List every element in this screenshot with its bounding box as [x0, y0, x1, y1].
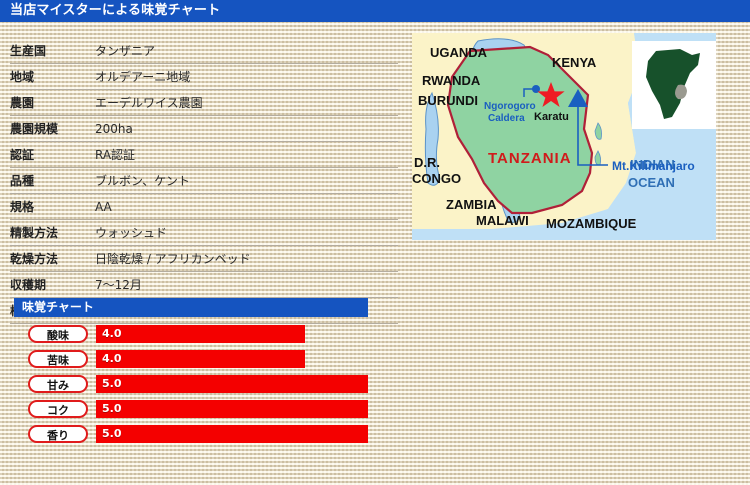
- taste-chart-header: 味覚チャート: [14, 298, 368, 317]
- taste-label-pill: 苦味: [28, 350, 88, 368]
- taste-bar-fill: 5.0: [96, 400, 368, 418]
- taste-chart-row: コク 5.0: [14, 396, 368, 421]
- taste-bar-track: 4.0: [96, 325, 368, 343]
- spec-label: 精製方法: [10, 224, 95, 241]
- taste-chart-block: 味覚チャート 酸味 4.0 苦味 4.0 甘み: [14, 298, 368, 446]
- spec-value: 日陰乾燥 / アフリカンベッド: [95, 250, 251, 267]
- table-row: 精製方法 ウォッシュド: [10, 220, 398, 246]
- spec-label: 規格: [10, 198, 95, 215]
- map-label-kenya: KENYA: [552, 55, 597, 70]
- spec-value: オルデアーニ地域: [95, 68, 190, 85]
- spec-label: 品種: [10, 172, 95, 189]
- taste-bar-track: 4.0: [96, 350, 368, 368]
- map-label-rwanda: RWANDA: [422, 73, 481, 88]
- table-row: 農園 エーデルワイス農園: [10, 90, 398, 116]
- taste-bar-track: 5.0: [96, 400, 368, 418]
- taste-label-pill: コク: [28, 400, 88, 418]
- tanzania-map-svg: UGANDA KENYA RWANDA BURUNDI D.R. CONGO Z…: [412, 33, 716, 240]
- spec-label: 生産国: [10, 42, 95, 59]
- taste-chart-row: 甘み 5.0: [14, 371, 368, 396]
- spec-value: 7〜12月: [95, 276, 142, 293]
- taste-chart-row: 酸味 4.0: [14, 321, 368, 346]
- taste-label-pill: 甘み: [28, 375, 88, 393]
- map-label-ngorogoro: Ngorogoro: [484, 101, 536, 112]
- table-row: 地域 オルデアーニ地域: [10, 64, 398, 90]
- map-label-karatu: Karatu: [534, 111, 569, 123]
- spec-value: ブルボン、ケント: [95, 172, 190, 189]
- spec-label: 農園: [10, 94, 95, 111]
- taste-bar-fill: 4.0: [96, 325, 305, 343]
- taste-bar-value: 5.0: [102, 402, 122, 415]
- map-label-indian-ocean-2: OCEAN: [628, 175, 675, 190]
- taste-bar-value: 5.0: [102, 427, 122, 440]
- taste-chart-rows: 酸味 4.0 苦味 4.0 甘み 5: [14, 321, 368, 446]
- map-label-uganda: UGANDA: [430, 45, 488, 60]
- spec-value: 200ha: [95, 122, 133, 136]
- taste-bar-value: 5.0: [102, 377, 122, 390]
- table-row: 乾燥方法 日陰乾燥 / アフリカンベッド: [10, 246, 398, 272]
- spec-label: 認証: [10, 146, 95, 163]
- table-row: 品種 ブルボン、ケント: [10, 168, 398, 194]
- taste-bar-track: 5.0: [96, 375, 368, 393]
- spec-value: AA: [95, 200, 112, 214]
- tanzania-map-image: UGANDA KENYA RWANDA BURUNDI D.R. CONGO Z…: [412, 33, 716, 240]
- taste-bar-value: 4.0: [102, 352, 122, 365]
- map-label-kilimanjaro: Mt.Kilimanjaro: [612, 159, 695, 173]
- map-label-congo: CONGO: [412, 171, 461, 186]
- spec-label: 乾燥方法: [10, 250, 95, 267]
- table-row: 農園規模 200ha: [10, 116, 398, 142]
- spec-label: 農園規模: [10, 120, 95, 137]
- taste-chart-row: 苦味 4.0: [14, 346, 368, 371]
- spec-label: 地域: [10, 68, 95, 85]
- taste-bar-value: 4.0: [102, 327, 122, 340]
- spec-value: タンザニア: [95, 42, 155, 59]
- map-label-mozambique: MOZAMBIQUE: [546, 216, 637, 231]
- map-label-tanzania: TANZANIA: [488, 150, 572, 167]
- map-label-burundi: BURUNDI: [418, 93, 478, 108]
- map-label-caldera: Caldera: [488, 113, 525, 124]
- taste-label-pill: 酸味: [28, 325, 88, 343]
- taste-bar-fill: 4.0: [96, 350, 305, 368]
- page-title: 当店マイスターによる味覚チャート: [0, 0, 750, 22]
- map-label-dr: D.R.: [414, 155, 440, 170]
- taste-bar-fill: 5.0: [96, 375, 368, 393]
- spec-value: RA認証: [95, 146, 135, 163]
- coffee-spec-table: 生産国 タンザニア 地域 オルデアーニ地域 農園 エーデルワイス農園 農園規模 …: [10, 38, 398, 324]
- spec-label: 収穫期: [10, 276, 95, 293]
- spec-value: ウォッシュド: [95, 224, 167, 241]
- table-row: 生産国 タンザニア: [10, 38, 398, 64]
- spec-value: エーデルワイス農園: [95, 94, 203, 111]
- taste-label-pill: 香り: [28, 425, 88, 443]
- map-label-zambia: ZAMBIA: [446, 197, 497, 212]
- table-row: 認証 RA認証: [10, 142, 398, 168]
- table-row: 規格 AA: [10, 194, 398, 220]
- taste-chart-row: 香り 5.0: [14, 421, 368, 446]
- taste-bar-fill: 5.0: [96, 425, 368, 443]
- table-row: 収穫期 7〜12月: [10, 272, 398, 298]
- map-label-malawi: MALAWI: [476, 213, 529, 228]
- taste-bar-track: 5.0: [96, 425, 368, 443]
